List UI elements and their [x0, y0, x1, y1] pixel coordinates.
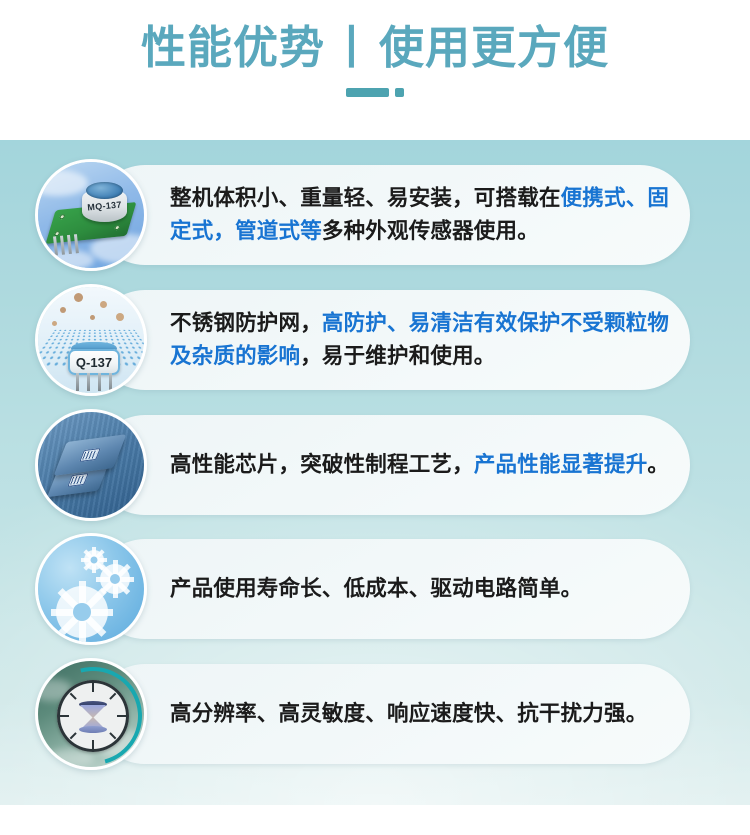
- q137-chip-label: Q-137: [68, 349, 120, 375]
- underline-dot: [395, 88, 404, 97]
- feature-card-2-text: 不锈钢防护网，高防护、易清洁有效保护不受颗粒物及杂质的影响，易于维护和使用。: [170, 307, 670, 373]
- page-title: 性能优势丨使用更方便: [141, 22, 609, 74]
- gears-icon: [35, 533, 147, 645]
- underline-dash: [346, 88, 389, 97]
- segment: 。: [647, 453, 669, 477]
- segment: 不锈钢防护网，: [170, 311, 322, 335]
- feature-card-1-text: 整机体积小、重量轻、易安装，可搭载在便携式、固定式，管道式等多种外观传感器使用。: [170, 182, 670, 248]
- feature-card-3-text: 高性能芯片，突破性制程工艺，产品性能显著提升。: [170, 449, 670, 482]
- mq137-chip-label: MQ-137: [82, 199, 128, 213]
- title-underline: [346, 88, 404, 97]
- segment-highlight: 产品性能显著提升: [474, 453, 648, 477]
- feature-card-5-text: 高分辨率、高灵敏度、响应速度快、抗干扰力强。: [170, 698, 670, 731]
- feature-card-4[interactable]: 产品使用寿命长、低成本、驱动电路简单。: [95, 539, 690, 639]
- feature-card-5[interactable]: 高分辨率、高灵敏度、响应速度快、抗干扰力强。: [95, 664, 690, 764]
- segment: 高性能芯片，突破性制程工艺，: [170, 453, 474, 477]
- microchip-icon: [35, 409, 147, 521]
- page-title-divider: 丨: [325, 22, 379, 73]
- stainless-mesh-sensor-icon: Q-137: [35, 284, 147, 396]
- segment: 产品使用寿命长、低成本、驱动电路简单。: [170, 577, 582, 601]
- feature-card-3[interactable]: 高性能芯片，突破性制程工艺，产品性能显著提升。: [95, 415, 690, 515]
- clock-dial: [57, 680, 129, 752]
- mq137-sensor-module-icon: MQ-137: [35, 159, 147, 271]
- feature-card-4-text: 产品使用寿命长、低成本、驱动电路简单。: [170, 573, 670, 606]
- page-title-right: 使用更方便: [379, 22, 609, 73]
- feature-card-1[interactable]: MQ-137 整机体积小、重量轻、易安装，可搭载在便携式、固定式，管道式等多种外…: [95, 165, 690, 265]
- promo-page: 性能优势丨使用更方便: [0, 0, 750, 835]
- feature-card-2[interactable]: Q-137 不锈钢防护网，高防护、易清洁有效保护不受颗粒物及杂质的影响，易于维护…: [95, 290, 690, 390]
- feature-card-list: MQ-137 整机体积小、重量轻、易安装，可搭载在便携式、固定式，管道式等多种外…: [0, 140, 750, 805]
- page-header: 性能优势丨使用更方便: [0, 0, 750, 140]
- segment: ，易于维护和使用。: [300, 344, 495, 368]
- segment: 多种外观传感器使用。: [322, 219, 539, 243]
- segment: 高分辨率、高灵敏度、响应速度快、抗干扰力强。: [170, 702, 647, 726]
- hourglass-clock-icon: [35, 658, 147, 770]
- page-title-left: 性能优势: [141, 22, 325, 73]
- segment: 整机体积小、重量轻、易安装，可搭载在: [170, 186, 561, 210]
